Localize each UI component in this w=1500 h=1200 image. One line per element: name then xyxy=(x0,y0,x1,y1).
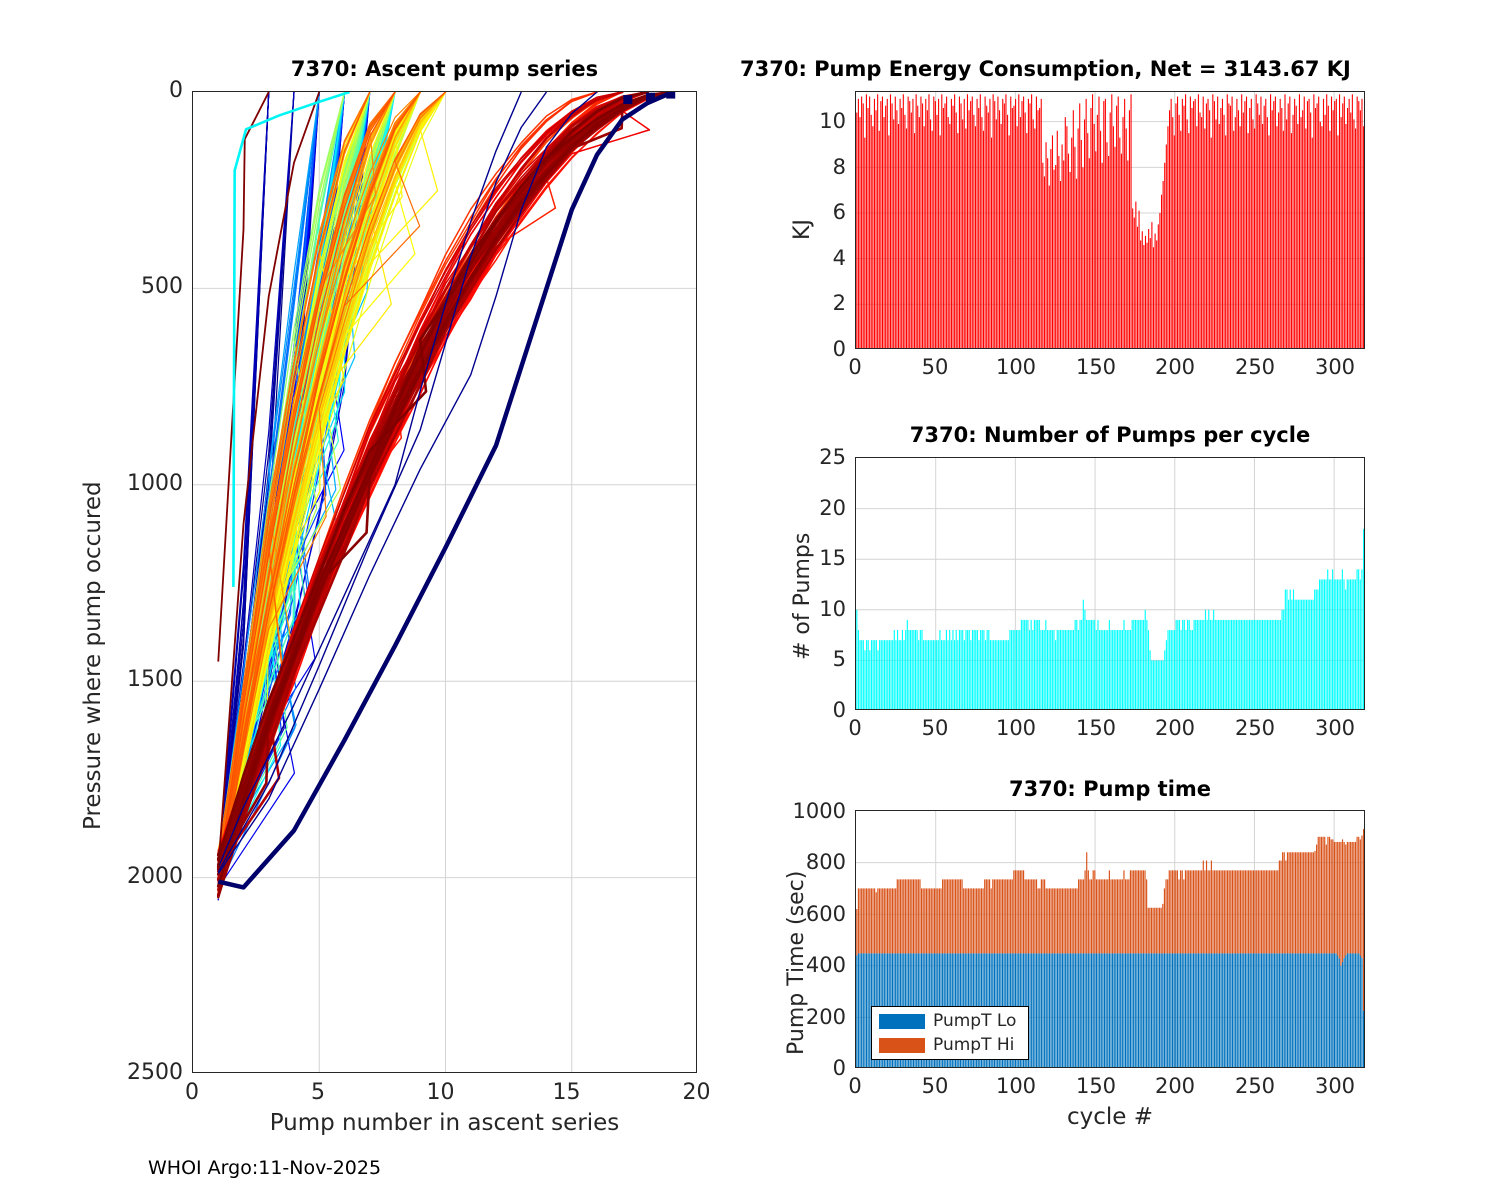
time-xtick-300: 300 xyxy=(1310,1074,1360,1098)
time-ytick-1000: 1000 xyxy=(776,799,846,823)
pumps-plot-area xyxy=(855,457,1365,710)
pumps-xtick-300: 300 xyxy=(1310,716,1360,740)
energy-ytick-0: 0 xyxy=(806,337,846,361)
pumps-yaxis-label: # of Pumps xyxy=(790,533,815,660)
ascent-ytick-2000: 2000 xyxy=(103,864,183,889)
energy-panel-title: 7370: Pump Energy Consumption, Net = 314… xyxy=(740,57,1500,81)
ascent-panel-title: 7370: Ascent pump series xyxy=(192,57,697,81)
ascent-xtick-15: 15 xyxy=(549,1080,584,1105)
energy-xtick-0: 0 xyxy=(845,355,865,379)
energy-ytick-8: 8 xyxy=(806,155,846,179)
pumps-xtick-100: 100 xyxy=(991,716,1041,740)
ascent-ytick-1500: 1500 xyxy=(103,667,183,692)
energy-plot-area xyxy=(855,91,1365,349)
time-xtick-0: 0 xyxy=(845,1074,865,1098)
pumps-xtick-200: 200 xyxy=(1150,716,1200,740)
energy-xtick-250: 250 xyxy=(1230,355,1280,379)
legend-swatch-pumpt-lo xyxy=(879,1014,925,1029)
legend-item-pumpt-hi: PumpT Hi xyxy=(879,1035,1021,1055)
energy-xtick-50: 50 xyxy=(915,355,955,379)
legend-item-pumpt-lo: PumpT Lo xyxy=(879,1011,1021,1031)
pumps-xtick-150: 150 xyxy=(1071,716,1121,740)
pumps-panel-title: 7370: Number of Pumps per cycle xyxy=(855,423,1365,447)
argo-pump-diagnostics-figure: 7370: Ascent pump series 0 500 1000 1500… xyxy=(0,0,1500,1200)
pumps-xtick-250: 250 xyxy=(1230,716,1280,740)
pumps-ytick-25: 25 xyxy=(796,445,846,469)
ascent-ytick-0: 0 xyxy=(143,78,183,103)
legend-label-pumpt-lo: PumpT Lo xyxy=(933,1011,1016,1031)
ascent-curves xyxy=(193,92,697,1073)
energy-ytick-2: 2 xyxy=(806,291,846,315)
ascent-xaxis-label: Pump number in ascent series xyxy=(192,1110,697,1136)
energy-xtick-100: 100 xyxy=(991,355,1041,379)
ascent-xtick-20: 20 xyxy=(679,1080,714,1105)
energy-yaxis-label: KJ xyxy=(790,219,815,240)
energy-xtick-200: 200 xyxy=(1150,355,1200,379)
legend-swatch-pumpt-hi xyxy=(879,1038,925,1053)
energy-bars xyxy=(856,92,1365,349)
energy-xtick-150: 150 xyxy=(1071,355,1121,379)
energy-ytick-4: 4 xyxy=(806,246,846,270)
ascent-xtick-0: 0 xyxy=(182,1080,202,1105)
time-xtick-250: 250 xyxy=(1230,1074,1280,1098)
pumps-xtick-0: 0 xyxy=(845,716,865,740)
time-xtick-50: 50 xyxy=(915,1074,955,1098)
legend-label-pumpt-hi: PumpT Hi xyxy=(933,1035,1014,1055)
ascent-yaxis-label: Pressure where pump occured xyxy=(80,481,106,830)
ascent-xtick-10: 10 xyxy=(423,1080,458,1105)
ascent-ytick-500: 500 xyxy=(123,274,183,299)
pumps-xtick-50: 50 xyxy=(915,716,955,740)
energy-ytick-10: 10 xyxy=(796,109,846,133)
time-xtick-150: 150 xyxy=(1071,1074,1121,1098)
footer-credit: WHOI Argo:11-Nov-2025 xyxy=(148,1157,381,1179)
energy-xtick-300: 300 xyxy=(1310,355,1360,379)
pumps-bars xyxy=(856,458,1365,710)
time-xaxis-label: cycle # xyxy=(855,1104,1365,1130)
ascent-ytick-2500: 2500 xyxy=(103,1060,183,1085)
pumps-ytick-0: 0 xyxy=(806,698,846,722)
pumps-ytick-20: 20 xyxy=(796,496,846,520)
time-ytick-0: 0 xyxy=(796,1056,846,1080)
ascent-plot-area xyxy=(192,91,697,1073)
ascent-xtick-5: 5 xyxy=(308,1080,328,1105)
pump-time-legend: PumpT Lo PumpT Hi xyxy=(871,1006,1029,1060)
time-xtick-200: 200 xyxy=(1150,1074,1200,1098)
time-yaxis-label: Pump Time (sec) xyxy=(784,871,809,1055)
time-panel-title: 7370: Pump time xyxy=(855,777,1365,801)
ascent-ytick-1000: 1000 xyxy=(103,471,183,496)
time-xtick-100: 100 xyxy=(991,1074,1041,1098)
